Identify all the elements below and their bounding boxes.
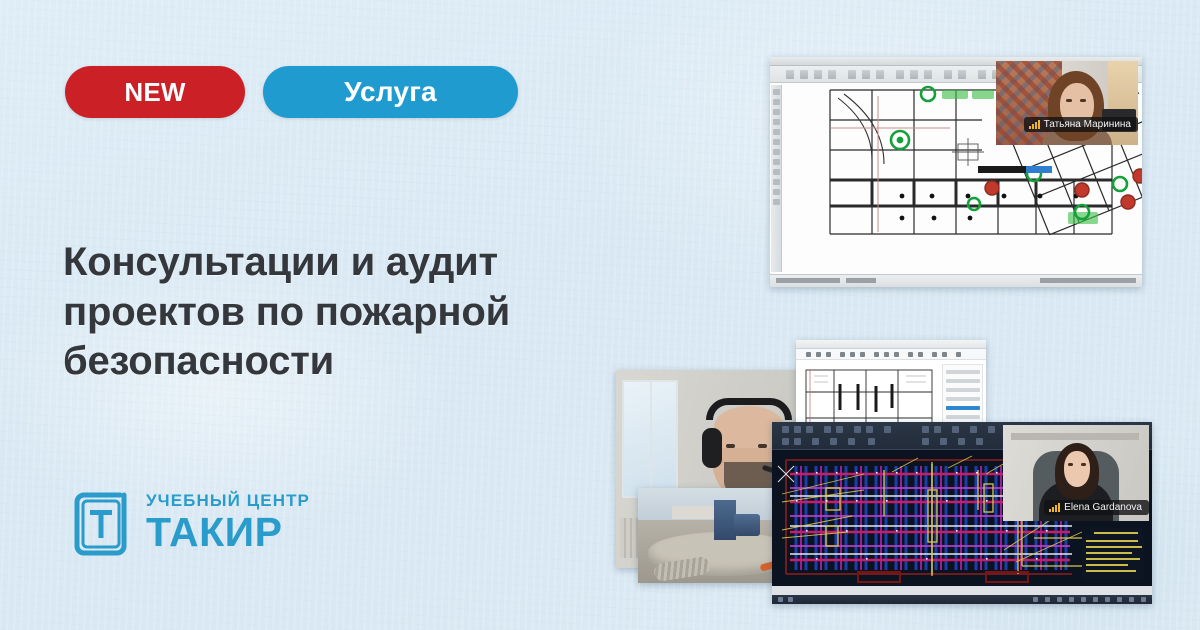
screenshot-autocad-top: Татьяна Маринина	[770, 57, 1142, 287]
nametag-elena-label: Elena Gardanova	[1064, 502, 1142, 513]
window-decor	[622, 380, 678, 498]
headphones-icon	[706, 398, 792, 420]
signal-bars-icon	[1049, 503, 1060, 512]
brand-logo[interactable]: УЧЕБНЫЙ ЦЕНТР ТАКИР	[68, 486, 310, 558]
viewer-toolbar	[796, 349, 986, 360]
badge-new[interactable]: NEW	[65, 66, 245, 118]
nametag-tatyana: Татьяна Маринина	[1024, 117, 1138, 132]
badge-new-label: NEW	[124, 77, 185, 108]
cad-tool-palette	[771, 85, 782, 272]
badge-group: NEW Услуга	[65, 66, 518, 118]
cad-annotation-legend	[1082, 536, 1144, 580]
screenshot-collage: Татьяна Маринина	[600, 30, 1200, 610]
screenshot-autocad-bottom: Elena Gardanova	[772, 422, 1152, 604]
badge-service[interactable]: Услуга	[263, 66, 518, 118]
cad-dark-statusbar	[772, 595, 1152, 604]
nametag-tatyana-label: Татьяна Маринина	[1044, 119, 1131, 130]
cad-statusbar	[770, 274, 1142, 287]
badge-service-label: Услуга	[344, 76, 437, 108]
nametag-elena: Elena Gardanova	[1044, 500, 1149, 515]
cad-command-line[interactable]	[772, 586, 1152, 595]
logo-text: УЧЕБНЫЙ ЦЕНТР ТАКИР	[146, 492, 310, 553]
page-title: Консультации и аудит проектов по пожарно…	[63, 238, 583, 387]
viewer-titlebar	[796, 340, 986, 349]
logo-line-bottom: ТАКИР	[146, 512, 310, 553]
logo-mark-icon	[68, 486, 134, 558]
video-thumb-tatyana	[996, 61, 1138, 145]
promo-banner: NEW Услуга Консультации и аудит проектов…	[0, 0, 1200, 630]
signal-bars-icon	[1029, 120, 1040, 129]
logo-line-top: УЧЕБНЫЙ ЦЕНТР	[146, 492, 310, 509]
